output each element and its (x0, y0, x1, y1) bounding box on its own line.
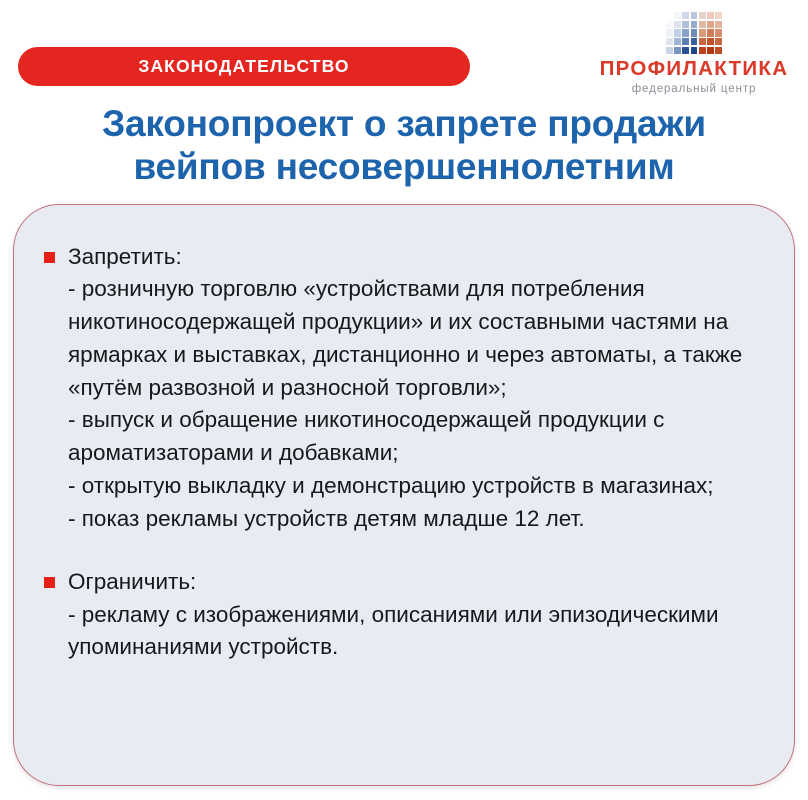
content-block-heading: Ограничить: (68, 566, 196, 598)
page-title-line-1: Законопроект о запрете продажи (0, 103, 808, 146)
category-badge: ЗАКОНОДАТЕЛЬСТВО (18, 47, 470, 86)
content-block-body: - розничную торговлю «устройствами для п… (68, 273, 768, 535)
content-paragraph: - открытую выкладку и демонстрацию устро… (68, 470, 768, 503)
square-bullet-icon (44, 252, 55, 263)
content-block-heading-row: Запретить: (44, 241, 768, 273)
content-block-heading: Запретить: (68, 241, 182, 273)
content-block: Ограничить: - рекламу с изображениями, о… (44, 566, 768, 664)
content-paragraph: - показ рекламы устройств детям младше 1… (68, 503, 768, 536)
category-badge-label: ЗАКОНОДАТЕЛЬСТВО (138, 56, 349, 77)
logo-wordmark: ПРОФИЛАКТИКА (594, 58, 794, 80)
content-paragraph: - розничную торговлю «устройствами для п… (68, 273, 768, 404)
square-bullet-icon (44, 577, 55, 588)
content-paragraph: - рекламу с изображениями, описаниями ил… (68, 599, 768, 664)
content-block-heading-row: Ограничить: (44, 566, 768, 598)
content-paragraph: - выпуск и обращение никотиносодержащей … (68, 404, 768, 469)
poster-header: ЗАКОНОДАТЕЛЬСТВО ПРОФИЛАКТИКА федеральны… (0, 0, 808, 196)
page-title: Законопроект о запрете продажи вейпов не… (0, 103, 808, 189)
content-block: Запретить: - розничную торговлю «устройс… (44, 241, 768, 535)
content-card: Запретить: - розничную торговлю «устройс… (13, 204, 795, 786)
grid-squares-logo-icon (666, 12, 722, 54)
logo-subtitle: федеральный центр (594, 83, 794, 95)
poster-root: ЗАКОНОДАТЕЛЬСТВО ПРОФИЛАКТИКА федеральны… (0, 0, 808, 800)
content-block-body: - рекламу с изображениями, описаниями ил… (68, 599, 768, 664)
page-title-line-2: вейпов несовершеннолетним (0, 146, 808, 189)
organization-logo: ПРОФИЛАКТИКА федеральный центр (594, 12, 794, 95)
